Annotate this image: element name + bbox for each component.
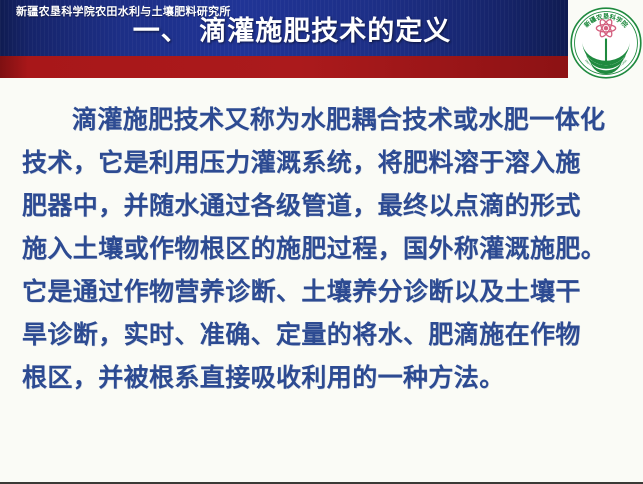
organization-band-fill [0, 56, 568, 78]
body-line: 它是通过作物营养诊断、土壤养分诊断以及土壤干 [22, 270, 612, 313]
logo-panel: 新疆农垦科学院 XINJIANG ACADEMY OF AGRICULTURAL… [568, 0, 643, 85]
body-line: 旱诊断，实时、准确、定量的将水、肥滴施在作物 [22, 313, 612, 356]
organization-band [0, 56, 568, 78]
academy-emblem-icon: 新疆农垦科学院 XINJIANG ACADEMY OF AGRICULTURAL… [569, 6, 643, 80]
slide-body-text: 滴灌施肥技术又称为水肥耦合技术或水肥一体化 技术，它是利用压力灌溉系统，将肥料溶… [22, 98, 612, 399]
organization-name: 新疆农垦科学院农田水利与土壤肥料研究所 [16, 0, 231, 22]
body-line: 根区，并被根系直接吸收利用的一种方法。 [22, 356, 612, 399]
presentation-slide: 一、 滴灌施肥技术的定义 新疆农垦科学院农田水利与土壤肥料研究所 新疆农垦科学院… [0, 0, 643, 484]
body-line: 滴灌施肥技术又称为水肥耦合技术或水肥一体化 [22, 98, 612, 141]
body-line: 技术，它是利用压力灌溉系统，将肥料溶于溶入施 [22, 141, 612, 184]
body-line: 施入土壤或作物根区的施肥过程，国外称灌溉施肥。 [22, 227, 612, 270]
body-line: 肥器中，并随水通过各级管道，最终以点滴的形式 [22, 184, 612, 227]
